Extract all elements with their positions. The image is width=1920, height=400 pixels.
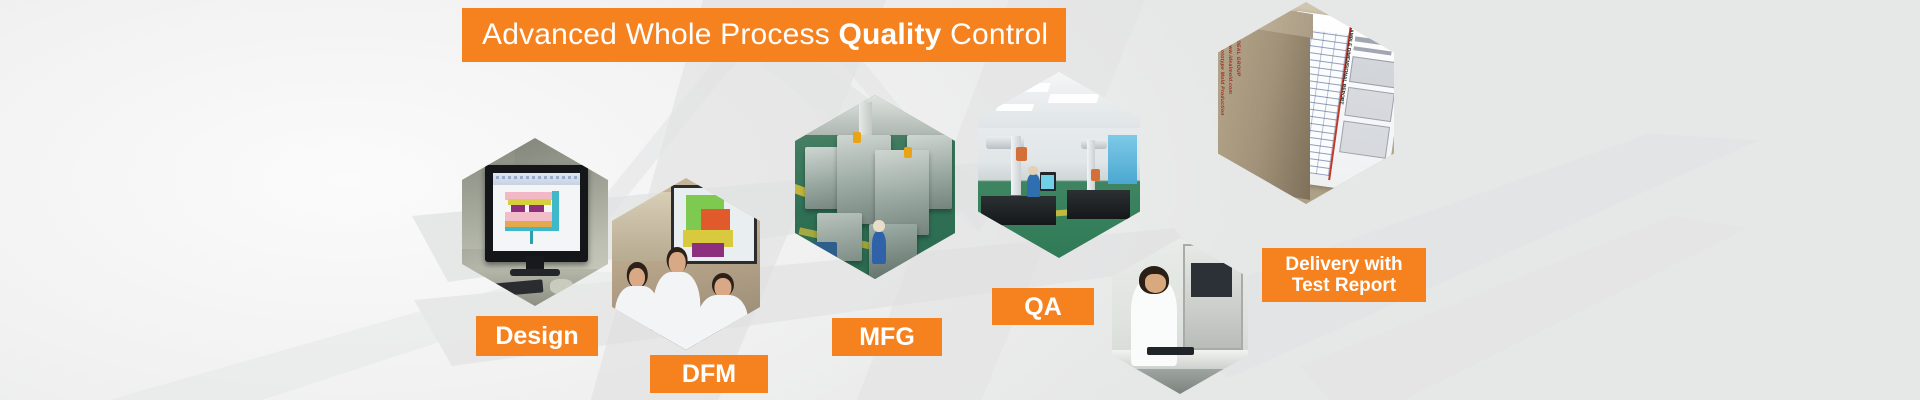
mfg-photo	[795, 95, 955, 279]
banner-title-emphasis: Quality	[838, 18, 941, 51]
box-print-line-1: IDEAL GROUP	[1235, 38, 1241, 77]
step-image-qa	[978, 72, 1140, 258]
banner-title-text: Advanced Whole Process Quality Control	[482, 20, 1048, 50]
step-image-dfm	[612, 178, 760, 350]
design-photo	[462, 138, 608, 306]
delivery-photo: SAMPLE DIMENSIONAL REPORT IDEAL GROUP ww…	[1218, 2, 1394, 204]
person-icon	[698, 271, 748, 350]
step-image-mfg	[795, 95, 955, 279]
background-swoosh-icon	[300, 210, 1250, 400]
person-icon	[1027, 174, 1040, 196]
banner-title-suffix: Control	[942, 18, 1049, 51]
step-label-design: Design	[476, 316, 598, 356]
step-image-design	[462, 138, 608, 306]
step-label-dfm: DFM	[650, 355, 768, 393]
step-label-qa: QA	[992, 288, 1094, 325]
person-icon	[653, 247, 700, 350]
box-print-line-3: Prototype Mold Production	[1219, 43, 1225, 116]
box-print-line-2: www.idealmold.com	[1227, 41, 1233, 95]
monitor-icon	[485, 165, 587, 262]
banner-title: Advanced Whole Process Quality Control	[462, 8, 1066, 62]
qa-operator-photo	[1112, 238, 1248, 394]
step-label-mfg: MFG	[832, 318, 942, 356]
cmm-machine-icon	[1065, 135, 1130, 221]
step-image-qa-operator	[1112, 238, 1248, 394]
dfm-photo	[612, 178, 760, 350]
banner-title-prefix: Advanced Whole Process	[482, 18, 838, 51]
person-icon	[872, 231, 886, 264]
step-label-delivery: Delivery with Test Report	[1262, 248, 1426, 302]
keyboard-icon	[1147, 347, 1193, 355]
monitor-icon	[1040, 172, 1056, 191]
qa-photo	[978, 72, 1140, 258]
step-image-delivery: SAMPLE DIMENSIONAL REPORT IDEAL GROUP ww…	[1218, 2, 1394, 204]
quality-control-banner: Advanced Whole Process Quality Control	[0, 0, 1920, 400]
